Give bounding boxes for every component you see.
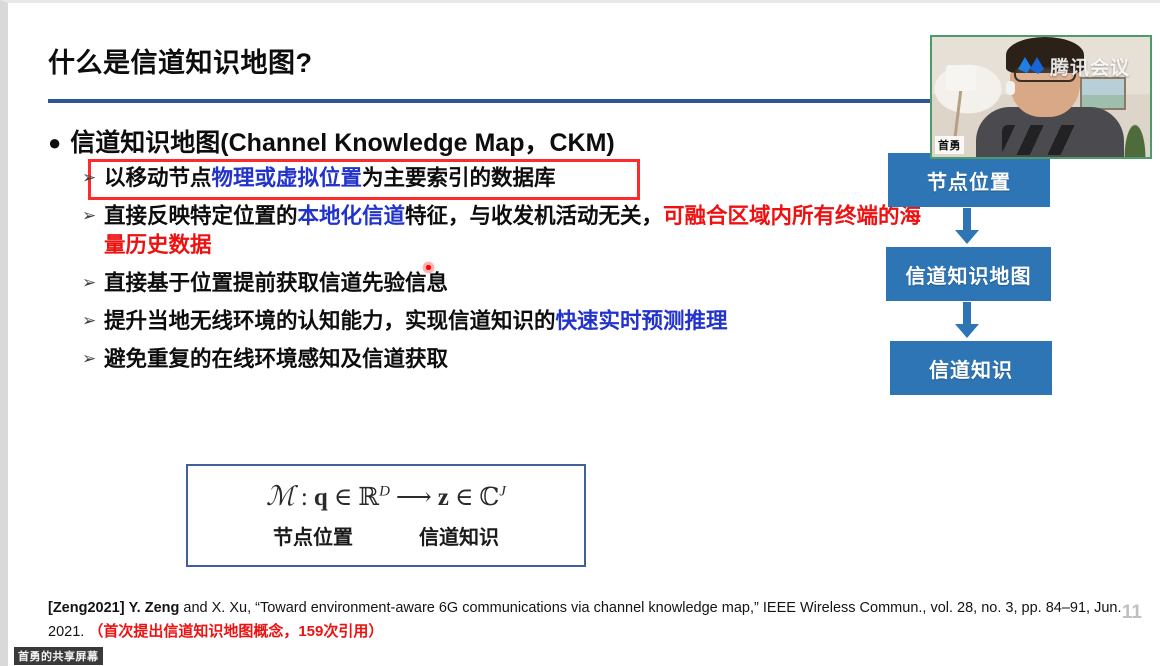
citation-note: （首次提出信道知识地图概念，159次引用） <box>88 623 383 640</box>
formula-domain-var: q <box>314 484 328 512</box>
list-item: ➢ 避免重复的在线环境感知及信道获取 <box>82 345 928 374</box>
arrow-bullet-icon: ➢ <box>82 269 104 296</box>
text-segment: 特征，与收发机活动无关， <box>405 204 663 228</box>
text-segment: 为主要索引的数据库 <box>362 166 556 190</box>
wall-picture-decoration <box>1080 77 1126 110</box>
list-item: ➢ 直接基于位置提前获取信道先验信息 <box>82 269 928 298</box>
down-arrow-icon <box>882 301 1051 341</box>
text-segment: 以移动节点 <box>104 166 212 190</box>
list-item-text: 直接反映特定位置的本地化信道特征，与收发机活动无关，可融合区域内所有终端的海量历… <box>104 202 928 260</box>
formula-arrow-icon: ⟶ <box>396 482 432 512</box>
list-item-text: 直接基于位置提前获取信道先验信息 <box>104 269 928 298</box>
formula-member-symbol-2: ∈ <box>455 482 474 512</box>
formula-colon: : <box>301 484 308 512</box>
list-item: ➢ 以移动节点物理或虚拟位置为主要索引的数据库 <box>82 164 928 193</box>
formula-domain-set: ℝD <box>358 482 390 512</box>
share-screen-label: 首勇的共享屏幕 <box>14 647 103 665</box>
down-arrow-icon <box>882 207 1051 247</box>
main-bullet-label: 信道知识地图(Channel Knowledge Map，CKM) <box>70 129 614 158</box>
flow-node-node-position: 节点位置 <box>888 153 1050 207</box>
earbud-icon <box>1006 81 1015 95</box>
sub-bullet-list: ➢ 以移动节点物理或虚拟位置为主要索引的数据库 ➢ 直接反映特定位置的本地化信道… <box>82 164 928 374</box>
tencent-meeting-logo-icon <box>1016 53 1046 79</box>
participant-video-tile[interactable]: 腾讯会议 首勇 <box>930 35 1152 159</box>
lamp-shade-decoration <box>946 65 976 91</box>
formula-codomain-set: ℂJ <box>479 482 506 512</box>
bullet-dot-icon: ● <box>48 129 61 157</box>
formula-labels: 节点位置 信道知识 <box>188 521 584 550</box>
list-item-text: 提升当地无线环境的认知能力，实现信道知识的快速实时预测推理 <box>104 307 928 336</box>
list-item: ➢ 直接反映特定位置的本地化信道特征，与收发机活动无关，可融合区域内所有终端的海… <box>82 202 928 260</box>
arrow-bullet-icon: ➢ <box>82 202 104 229</box>
formula-label-left: 节点位置 <box>273 521 353 550</box>
domain-set-glyph: ℝ <box>358 484 379 511</box>
text-segment: 提升当地无线环境的认知能力，实现信道知识的 <box>104 309 556 333</box>
formula-member-symbol: ∈ <box>334 482 353 512</box>
arrow-bullet-icon: ➢ <box>82 345 104 372</box>
watermark-text: 腾讯会议 <box>1050 53 1130 80</box>
page-number: 11 <box>1122 602 1142 624</box>
codomain-exponent: J <box>499 484 506 500</box>
main-bullet: ● 信道知识地图(Channel Knowledge Map，CKM) <box>48 129 928 158</box>
formula-label-right: 信道知识 <box>419 521 499 550</box>
formula-expression: ℳ : q ∈ ℝD ⟶ z ∈ ℂJ <box>266 481 506 512</box>
citation-reference: [Zeng2021] Y. Zeng and X. Xu, “Toward en… <box>48 597 1140 645</box>
citation-tag: [Zeng2021] <box>48 600 125 616</box>
flow-node-channel-knowledge: 信道知识 <box>890 341 1052 395</box>
text-segment-blue: 本地化信道 <box>298 204 406 228</box>
list-item-text: 避免重复的在线环境感知及信道获取 <box>104 345 928 374</box>
list-item: ➢ 提升当地无线环境的认知能力，实现信道知识的快速实时预测推理 <box>82 307 928 336</box>
cursor-pointer-icon <box>422 261 435 274</box>
text-segment: 直接反映特定位置的 <box>104 204 298 228</box>
flow-node-channel-knowledge-map: 信道知识地图 <box>886 247 1051 301</box>
share-status-bar: 首勇的共享屏幕 <box>8 648 1160 666</box>
citation-author: Y. Zeng <box>129 600 180 616</box>
slide-content: ● 信道知识地图(Channel Knowledge Map，CKM) ➢ 以移… <box>48 129 928 383</box>
text-segment-blue: 快速实时预测推理 <box>556 309 728 333</box>
formula-box: ℳ : q ∈ ℝD ⟶ z ∈ ℂJ 节点位置 信道知识 <box>186 464 586 567</box>
text-segment-blue: 物理或虚拟位置 <box>212 166 363 190</box>
list-item-text: 以移动节点物理或虚拟位置为主要索引的数据库 <box>104 164 928 193</box>
codomain-set-glyph: ℂ <box>479 484 499 511</box>
arrow-bullet-icon: ➢ <box>82 307 104 334</box>
formula-mapping-symbol: ℳ <box>266 481 295 512</box>
plant-decoration <box>1122 117 1148 157</box>
arrow-bullet-icon: ➢ <box>82 164 104 191</box>
flowchart-diagram: 节点位置 信道知识地图 信道知识 <box>886 153 1051 395</box>
participant-name-label: 首勇 <box>935 136 964 154</box>
page-title: 什么是信道知识地图? <box>48 41 313 80</box>
shared-screen-frame: 什么是信道知识地图? ● 信道知识地图(Channel Knowledge Ma… <box>0 0 1160 666</box>
domain-exponent: D <box>379 484 390 500</box>
formula-codomain-var: z <box>438 484 449 512</box>
